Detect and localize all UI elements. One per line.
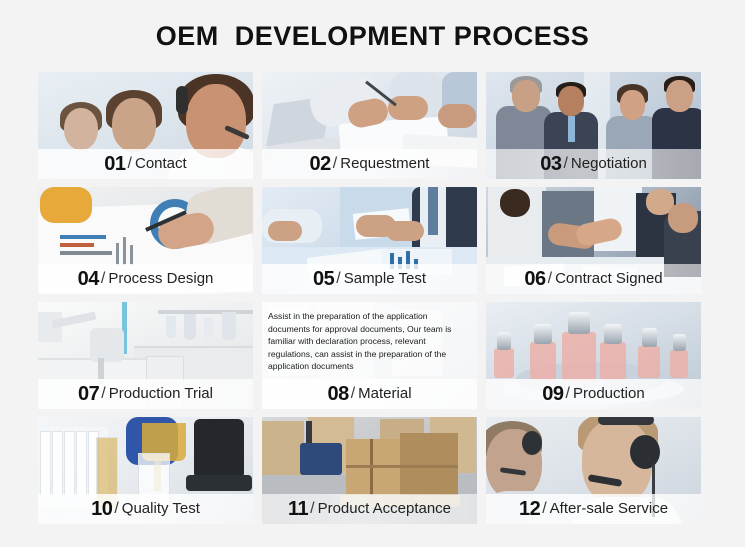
step-label: Production <box>573 384 645 404</box>
step-separator: / <box>101 384 105 404</box>
step-separator: / <box>566 384 570 404</box>
step-label: Product Acceptance <box>318 499 451 519</box>
step-label: Contract Signed <box>555 269 663 289</box>
process-step-card-03[interactable]: 03 / Negotiation <box>486 72 701 179</box>
step-number: 09 <box>542 384 563 404</box>
step-label: Material <box>358 384 411 404</box>
step-number: 06 <box>524 269 545 289</box>
step-number: 02 <box>310 154 331 174</box>
step-separator: / <box>310 499 314 519</box>
step-separator: / <box>333 154 337 174</box>
step-label-band: 09 / Production <box>486 379 701 409</box>
step-separator: / <box>114 499 118 519</box>
step-separator: / <box>128 154 132 174</box>
step-label-band: 01 / Contact <box>38 149 253 179</box>
step-number: 12 <box>519 499 540 519</box>
step-separator: / <box>351 384 355 404</box>
step-number: 03 <box>540 154 561 174</box>
step-number: 08 <box>327 384 348 404</box>
step-label-band: 03 / Negotiation <box>486 149 701 179</box>
step-separator: / <box>542 499 546 519</box>
page-title: OEM DEVELOPMENT PROCESS <box>0 0 745 53</box>
process-step-card-07[interactable]: 07 / Production Trial <box>38 302 253 409</box>
step-separator: / <box>563 154 567 174</box>
step-separator: / <box>101 269 105 289</box>
process-step-card-08[interactable]: Assist in the preparation of the applica… <box>262 302 477 409</box>
step-label-band: 08 / Material <box>262 379 477 409</box>
step-separator: / <box>336 269 340 289</box>
step-label-band: 07 / Production Trial <box>38 379 253 409</box>
step-label: Requestment <box>340 154 429 174</box>
step-number: 07 <box>78 384 99 404</box>
step-label-band: 11 / Product Acceptance <box>262 494 477 524</box>
step-label-band: 02 / Requestment <box>262 149 477 179</box>
step-label-band: 06 / Contract Signed <box>486 264 701 294</box>
step-number: 04 <box>78 269 99 289</box>
process-step-card-09[interactable]: 09 / Production <box>486 302 701 409</box>
step-body-text: Assist in the preparation of the applica… <box>268 310 471 373</box>
step-number: 05 <box>313 269 334 289</box>
step-number: 01 <box>104 154 125 174</box>
step-label: After-sale Service <box>550 499 668 519</box>
process-step-card-04[interactable]: 04 / Process Design <box>38 187 253 294</box>
process-step-card-01[interactable]: 01 / Contact <box>38 72 253 179</box>
process-step-card-11[interactable]: 11 / Product Acceptance <box>262 417 477 524</box>
step-number: 10 <box>91 499 112 519</box>
step-label-band: 12 / After-sale Service <box>486 494 701 524</box>
step-label-band: 05 / Sample Test <box>262 264 477 294</box>
process-steps-grid: 01 / Contact 02 / Requestment <box>38 72 702 524</box>
step-label: Process Design <box>108 269 213 289</box>
step-label: Negotiation <box>571 154 647 174</box>
process-step-card-02[interactable]: 02 / Requestment <box>262 72 477 179</box>
step-separator: / <box>548 269 552 289</box>
process-step-card-06[interactable]: 06 / Contract Signed <box>486 187 701 294</box>
step-label-band: 04 / Process Design <box>38 264 253 294</box>
step-label: Quality Test <box>122 499 200 519</box>
oem-process-page: OEM DEVELOPMENT PROCESS 01 / Contact <box>0 0 745 547</box>
step-label: Production Trial <box>109 384 213 404</box>
step-label: Contact <box>135 154 187 174</box>
step-number: 11 <box>288 499 308 519</box>
step-label-band: 10 / Quality Test <box>38 494 253 524</box>
step-label: Sample Test <box>344 269 426 289</box>
process-step-card-10[interactable]: 10 / Quality Test <box>38 417 253 524</box>
process-step-card-05[interactable]: 05 / Sample Test <box>262 187 477 294</box>
process-step-card-12[interactable]: 12 / After-sale Service <box>486 417 701 524</box>
